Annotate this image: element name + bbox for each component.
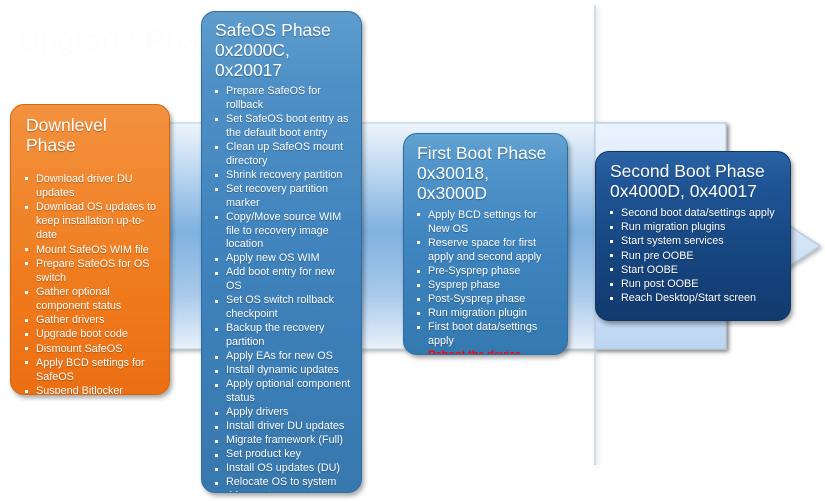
phase-step: Install driver DU updates bbox=[213, 420, 353, 434]
phase-step: Prepare SafeOS for OS switch bbox=[23, 257, 159, 285]
phase-step: Install OS updates (DU) bbox=[213, 462, 353, 476]
phase-step: Add boot entry for new OS bbox=[213, 266, 353, 294]
phase-steps-safeos: Prepare SafeOS for rollback Set SafeOS b… bbox=[213, 85, 353, 493]
phase-step: Mount SafeOS WIM file bbox=[23, 243, 159, 257]
phase-step: Start OOBE bbox=[608, 263, 782, 277]
phase-step: Prepare SafeOS for rollback bbox=[213, 85, 353, 113]
phase-step: Reserve space for first apply and second… bbox=[415, 236, 559, 264]
phase-step: Post-Sysprep phase bbox=[415, 292, 559, 306]
phase-step: Apply BCD settings for SafeOS bbox=[23, 356, 159, 384]
phase-step: Set recovery partition marker bbox=[213, 183, 353, 211]
phase-title-downlevel: Downlevel Phase bbox=[23, 116, 159, 156]
phase-title-second-boot: Second Boot Phase 0x4000D, 0x40017 bbox=[608, 162, 782, 202]
phase-title-first-boot: First Boot Phase 0x30018, 0x3000D bbox=[415, 144, 559, 204]
phase-name-first-boot: First Boot Phase bbox=[417, 143, 546, 163]
phase-box-first-boot[interactable]: First Boot Phase 0x30018, 0x3000D Apply … bbox=[403, 133, 568, 355]
phase-step: Run migration plugin bbox=[415, 306, 559, 320]
phase-step-reboot: Reboot the device bbox=[415, 348, 559, 355]
phase-step: Sysprep phase bbox=[415, 278, 559, 292]
phase-step: Suspend Bitlocker bbox=[23, 384, 159, 395]
phase-step: Run post OOBE bbox=[608, 277, 782, 291]
phase-step: Dismount SafeOS bbox=[23, 342, 159, 356]
phase-name-safeos: SafeOS Phase bbox=[215, 20, 331, 40]
phase-steps-first-boot: Apply BCD settings for New OS Reserve sp… bbox=[415, 208, 559, 355]
phase-code-safeos: 0x2000C, 0x20017 bbox=[215, 41, 353, 81]
phase-box-second-boot[interactable]: Second Boot Phase 0x4000D, 0x40017 Secon… bbox=[595, 151, 791, 321]
phase-step: Apply optional component status bbox=[213, 378, 353, 406]
phase-step: First boot data/settings apply bbox=[415, 320, 559, 348]
phase-step: Backup the recovery partition bbox=[213, 322, 353, 350]
diagram-canvas: Upgrade Phases Downlevel Phase Download … bbox=[0, 0, 825, 501]
phase-step: Gather drivers bbox=[23, 313, 159, 327]
phase-step: Copy/Move source WIM file to recovery im… bbox=[213, 211, 353, 253]
phase-step: Download driver DU updates bbox=[23, 172, 159, 200]
phase-step: Apply EAs for new OS bbox=[213, 350, 353, 364]
phase-name-second-boot: Second Boot Phase bbox=[610, 161, 765, 181]
phase-steps-second-boot: Second boot data/settings apply Run migr… bbox=[608, 206, 782, 306]
phase-name-downlevel: Downlevel Phase bbox=[26, 115, 107, 155]
phase-code-first-boot: 0x30018, 0x3000D bbox=[417, 164, 559, 204]
phase-step: Second boot data/settings apply bbox=[608, 206, 782, 220]
phase-step: Relocate OS to system drive root bbox=[213, 476, 353, 493]
phase-step: Migrate framework (Full) bbox=[213, 434, 353, 448]
phase-step: Start system services bbox=[608, 234, 782, 248]
phase-step: Run migration plugins bbox=[608, 220, 782, 234]
phase-title-safeos: SafeOS Phase 0x2000C, 0x20017 bbox=[213, 21, 353, 81]
phase-step: Install dynamic updates bbox=[213, 364, 353, 378]
phase-step: Apply drivers bbox=[213, 406, 353, 420]
phase-step: Download OS updates to keep installation… bbox=[23, 200, 159, 242]
phase-box-safeos[interactable]: SafeOS Phase 0x2000C, 0x20017 Prepare Sa… bbox=[201, 11, 362, 493]
phase-step: Pre-Sysprep phase bbox=[415, 264, 559, 278]
phase-step: Shrink recovery partition bbox=[213, 169, 353, 183]
phase-step: Apply BCD settings for New OS bbox=[415, 208, 559, 236]
phase-step: Upgrade boot code bbox=[23, 327, 159, 341]
phase-step: Reach Desktop/Start screen bbox=[608, 291, 782, 305]
phase-step: Clean up SafeOS mount directory bbox=[213, 141, 353, 169]
phase-code-second-boot: 0x4000D, 0x40017 bbox=[610, 182, 782, 202]
phase-steps-downlevel: Download driver DU updates Download OS u… bbox=[23, 172, 159, 395]
phase-step: Gather optional component status bbox=[23, 285, 159, 313]
phase-step: Apply new OS WIM bbox=[213, 252, 353, 266]
phase-box-downlevel[interactable]: Downlevel Phase Download driver DU updat… bbox=[10, 104, 170, 395]
phase-step: Set OS switch rollback checkpoint bbox=[213, 294, 353, 322]
phase-step: Run pre OOBE bbox=[608, 249, 782, 263]
phase-step: Set SafeOS boot entry as the default boo… bbox=[213, 113, 353, 141]
phase-step: Set product key bbox=[213, 448, 353, 462]
